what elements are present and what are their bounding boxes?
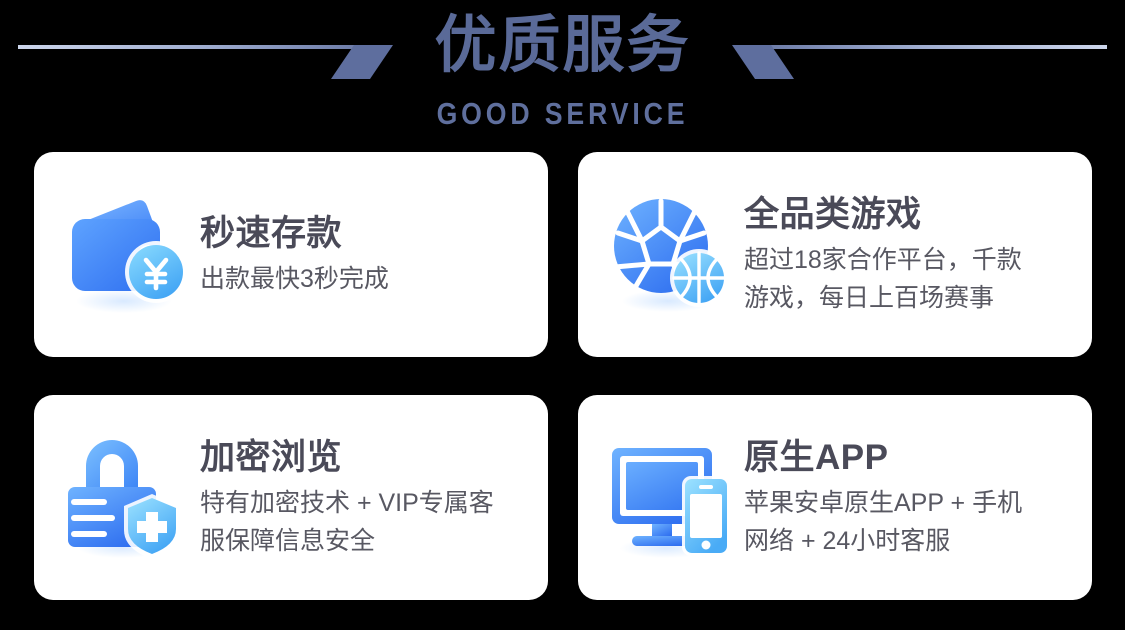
card-description-line: 游戏，每日上百场赛事 xyxy=(744,279,1076,317)
page-subtitle: GOOD SERVICE xyxy=(79,97,1047,131)
card-description-line: 超过18家合作平台，千款 xyxy=(744,241,1076,279)
service-card-games[interactable]: 全品类游戏 超过18家合作平台，千款 游戏，每日上百场赛事 xyxy=(578,152,1092,357)
wallet-yen-icon xyxy=(60,189,192,321)
card-text-block: 原生APP 苹果安卓原生APP + 手机 网络 + 24小时客服 xyxy=(744,436,1076,560)
card-description-line: 苹果安卓原生APP + 手机 xyxy=(744,484,1076,522)
card-description-line: 网络 + 24小时客服 xyxy=(744,522,1076,560)
card-title: 加密浏览 xyxy=(200,436,532,480)
card-description: 苹果安卓原生APP + 手机 网络 + 24小时客服 xyxy=(744,484,1076,560)
card-text-block: 全品类游戏 超过18家合作平台，千款 游戏，每日上百场赛事 xyxy=(744,193,1076,317)
card-title: 秒速存款 xyxy=(200,212,532,256)
card-description: 特有加密技术 + VIP专属客 服保障信息安全 xyxy=(200,484,532,560)
card-text-block: 加密浏览 特有加密技术 + VIP专属客 服保障信息安全 xyxy=(200,436,532,560)
page-title: 优质服务 xyxy=(0,6,1125,86)
card-description-line: 出款最快3秒完成 xyxy=(200,260,532,298)
card-description-line: 特有加密技术 + VIP专属客 xyxy=(200,484,532,522)
card-description-line: 服保障信息安全 xyxy=(200,522,532,560)
card-description: 超过18家合作平台，千款 游戏，每日上百场赛事 xyxy=(744,241,1076,317)
service-card-encryption[interactable]: 加密浏览 特有加密技术 + VIP专属客 服保障信息安全 xyxy=(34,395,548,600)
card-title: 原生APP xyxy=(744,436,1076,480)
card-description: 出款最快3秒完成 xyxy=(200,260,532,298)
service-card-deposit[interactable]: 秒速存款 出款最快3秒完成 xyxy=(34,152,548,357)
lock-shield-icon xyxy=(60,432,192,564)
service-card-native-app[interactable]: 原生APP 苹果安卓原生APP + 手机 网络 + 24小时客服 xyxy=(578,395,1092,600)
page-header: 优质服务 GOOD SERVICE xyxy=(0,0,1125,150)
card-text-block: 秒速存款 出款最快3秒完成 xyxy=(200,212,532,298)
monitor-phone-icon xyxy=(604,432,736,564)
service-card-grid: 秒速存款 出款最快3秒完成 xyxy=(34,152,1092,600)
soccer-basketball-icon xyxy=(604,189,736,321)
card-title: 全品类游戏 xyxy=(744,193,1076,237)
